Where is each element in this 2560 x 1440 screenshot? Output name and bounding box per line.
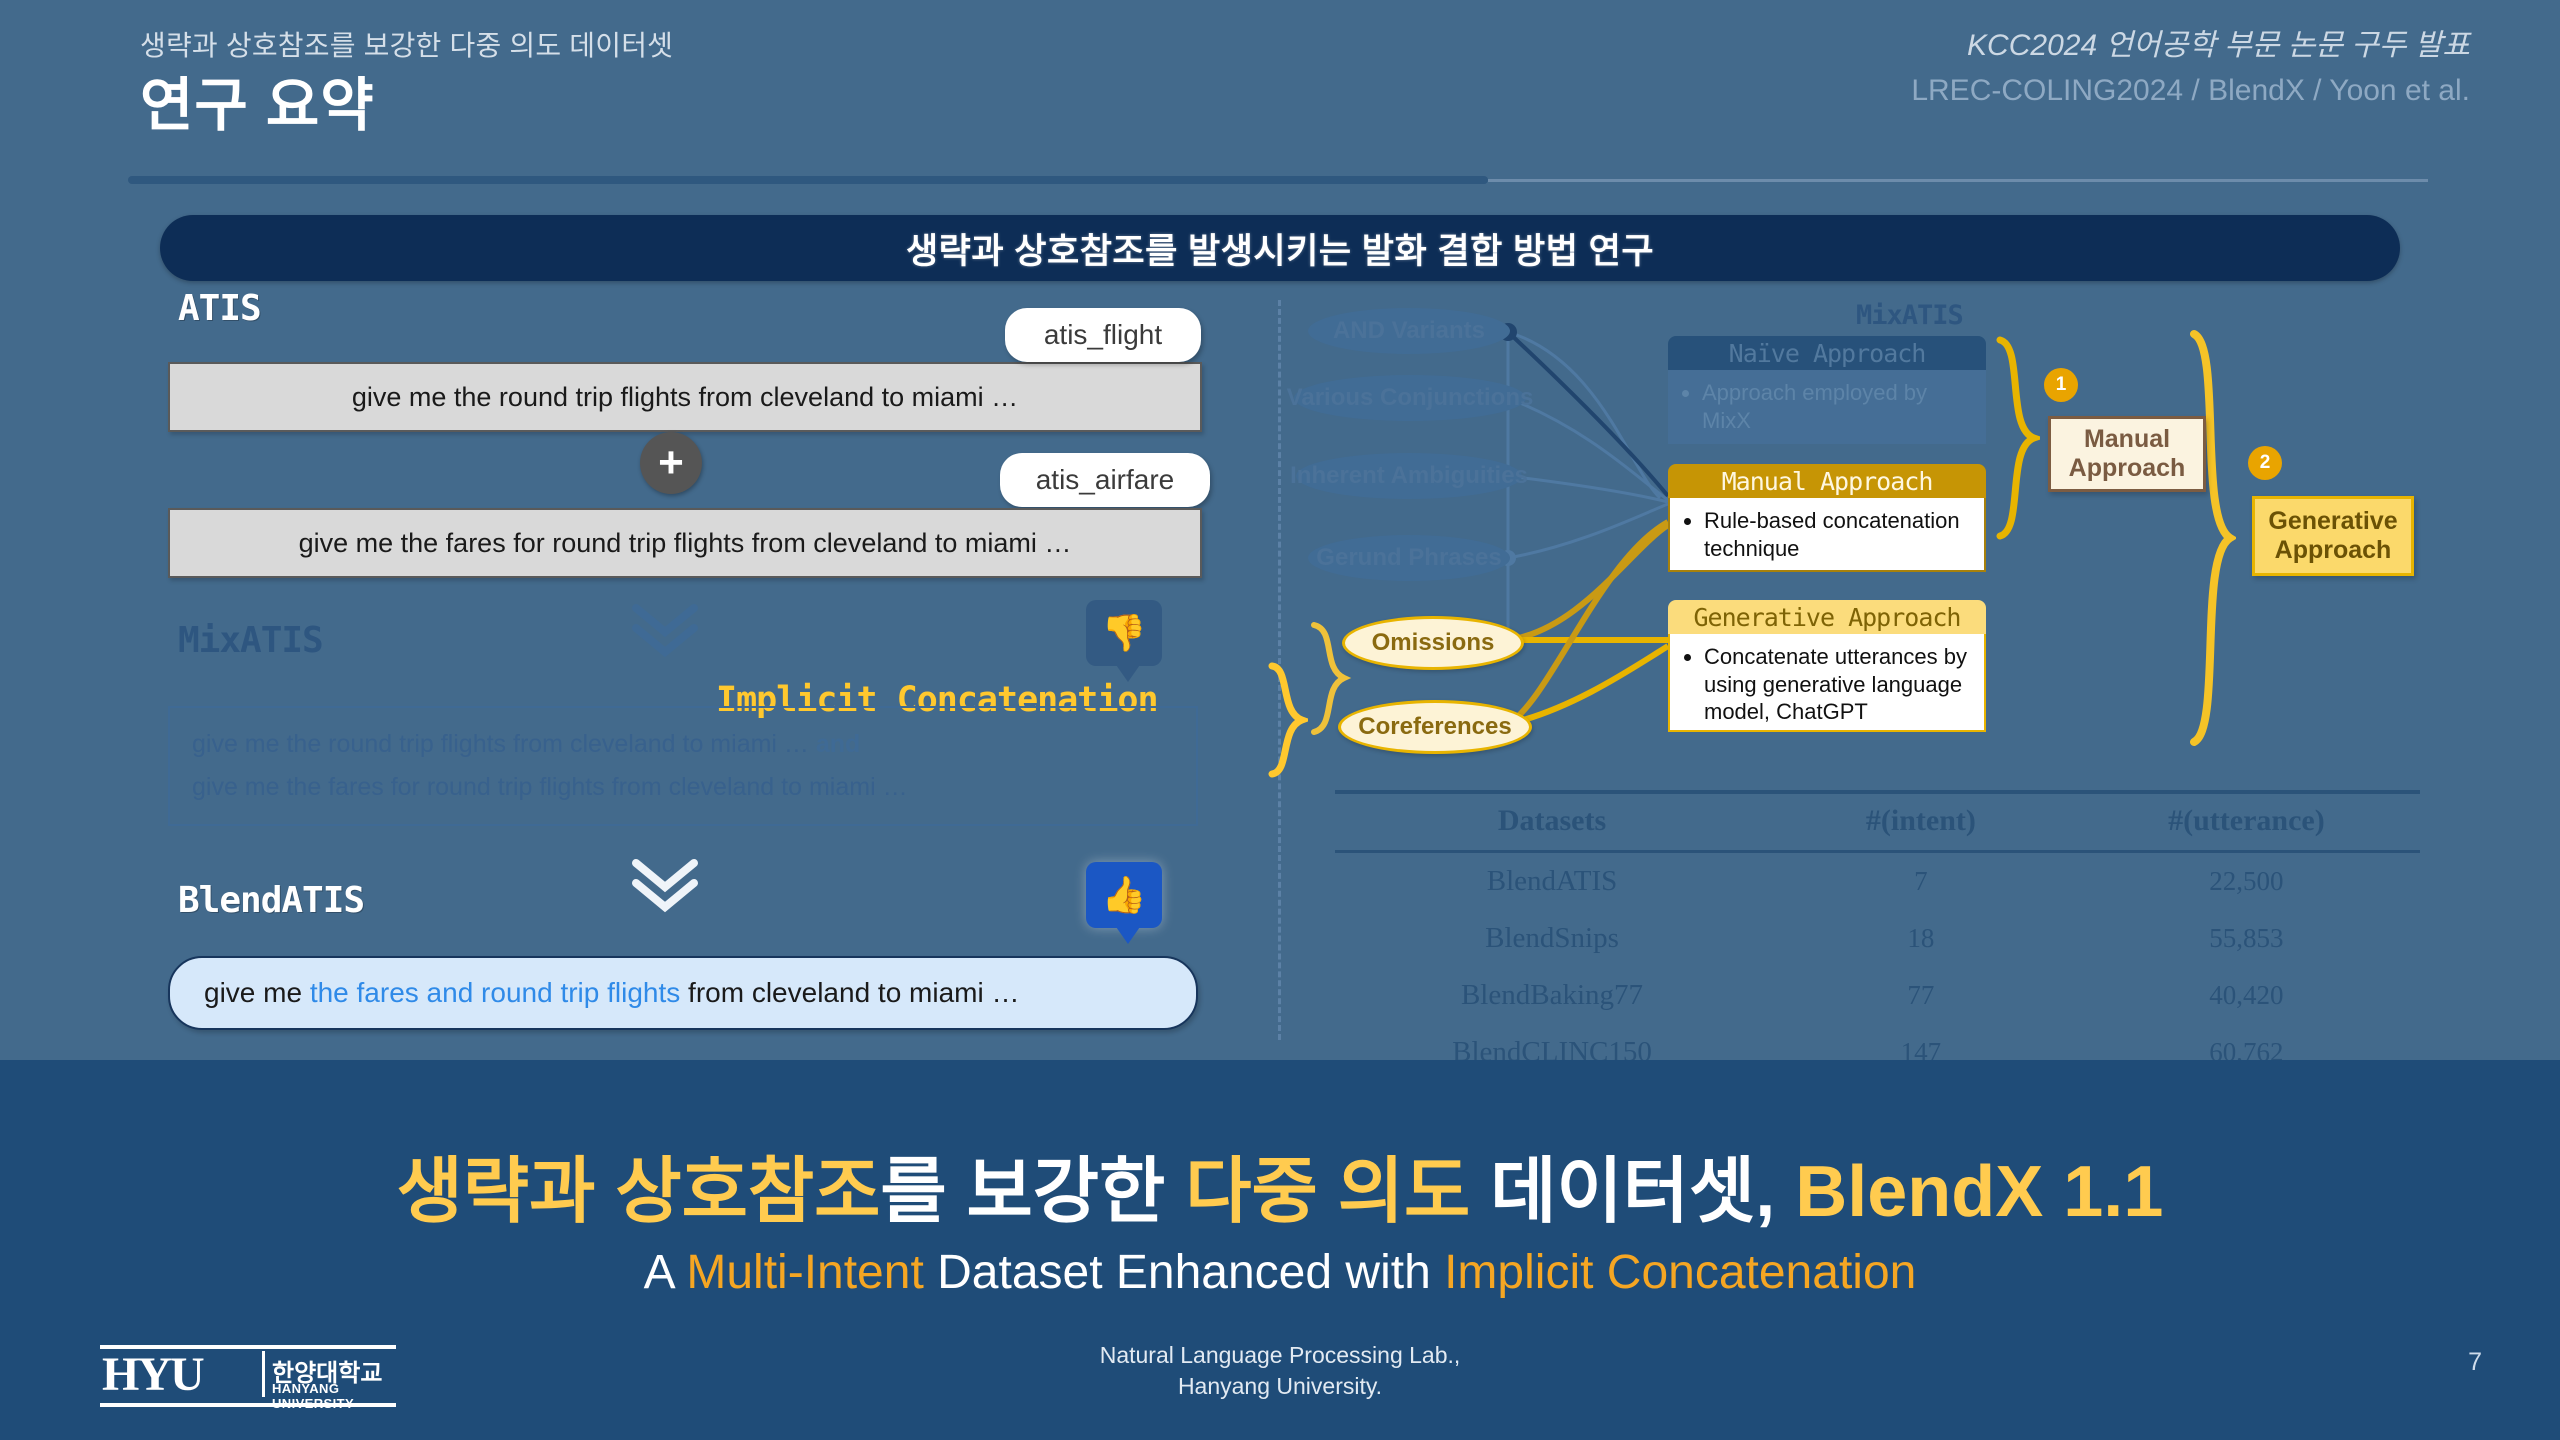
summary-title-en: A Multi-Intent Dataset Enhanced with Imp… <box>0 1245 2560 1300</box>
blend-highlight: the fares and round trip flights <box>310 977 680 1008</box>
datasets-table: Datasets #(intent) #(utterance) BlendATI… <box>1335 790 2420 1085</box>
label-blendatis: BlendATIS <box>178 880 364 921</box>
thumbs-up-icon: 👍 <box>1086 862 1162 928</box>
chevron-down-icon-1 <box>630 600 700 660</box>
card-manual-body: Rule-based concatenation technique <box>1668 498 1986 572</box>
cell-intent: 77 <box>1769 967 2073 1024</box>
node-and-variants: AND Variants <box>1308 308 1510 354</box>
badge-manual-line1: Manual <box>2084 425 2170 454</box>
card-naive-bullet-1: Approach employed by MixX <box>1702 379 1974 434</box>
card-manual-title: Manual Approach <box>1668 464 1986 498</box>
bubble-tail-up <box>1114 924 1142 944</box>
header-rule-left <box>128 176 1488 184</box>
blendatis-utterance-box: give me the fares and round trip flights… <box>168 956 1198 1030</box>
datasets-table-wrapper: Datasets #(intent) #(utterance) BlendATI… <box>1335 790 2420 1085</box>
cell-dataset: BlendSnips <box>1335 910 1769 967</box>
intent-tag-airfare: atis_airfare <box>1000 453 1210 507</box>
badge-number-2: 2 <box>2248 446 2282 480</box>
cell-intent: 18 <box>1769 910 2073 967</box>
label-mixatis: MixATIS <box>178 620 323 661</box>
lab-credit: Natural Language Processing Lab., Hanyan… <box>0 1340 2560 1402</box>
summary-en-t2: Dataset Enhanced with <box>924 1246 1444 1299</box>
lab-credit-line2: Hanyang University. <box>0 1371 2560 1402</box>
mixatis-line-2: give me the fares for round trip flights… <box>192 773 1196 802</box>
blendatis-utterance-text: give me the fares and round trip flights… <box>204 977 1020 1009</box>
summary-title-ko: 생략과 상호참조를 보강한 다중 의도 데이터셋, BlendX 1.1 <box>0 1132 2560 1237</box>
summary-ko-hl2: 다중 의도 <box>1185 1152 1470 1232</box>
mixatis-conjunction: and <box>816 730 860 758</box>
col-datasets: Datasets <box>1335 792 1769 852</box>
section-banner-text: 생략과 상호참조를 발생시키는 발화 결합 방법 연구 <box>906 223 1654 274</box>
page-number: 7 <box>2468 1348 2482 1377</box>
badge-generative-line1: Generative <box>2268 507 2397 536</box>
cell-intent: 7 <box>1769 852 2073 911</box>
badge-generative-line2: Approach <box>2275 536 2392 565</box>
summary-en-t1: A <box>644 1246 687 1299</box>
atis-utterance-2: give me the fares for round trip flights… <box>168 508 1202 578</box>
approach-mindmap: AND Variants Various Conjunctions Inhere… <box>1300 300 2550 760</box>
table-header-row: Datasets #(intent) #(utterance) <box>1335 792 2420 852</box>
brace-generative-icon <box>2180 328 2236 748</box>
bubble-tail <box>1114 662 1142 682</box>
mindmap-mixatis-title: MixATIS <box>1856 300 1963 331</box>
mixatis-line-1: give me the round trip flights from clev… <box>192 730 1196 759</box>
cell-dataset: BlendATIS <box>1335 852 1769 911</box>
chevron-down-icon-2 <box>630 855 700 915</box>
atis-utterance-1: give me the round trip flights from clev… <box>168 362 1202 432</box>
slide-header: 생략과 상호참조를 보강한 다중 의도 데이터셋 연구 요약 KCC2024 언… <box>0 0 2560 185</box>
thumbs-down-icon: 👎 <box>1086 600 1162 666</box>
card-generative-bullet-1: Concatenate utterances by using generati… <box>1704 643 1972 726</box>
plus-operator: + <box>640 432 702 494</box>
section-banner: 생략과 상호참조를 발생시키는 발화 결합 방법 연구 <box>160 215 2400 281</box>
thumbs-up-bubble: 👍 <box>1086 862 1162 928</box>
node-inherent-ambiguities: Inherent Ambiguities <box>1296 453 1522 499</box>
mixatis-utterance-box: give me the round trip flights from clev… <box>168 706 1198 826</box>
page-title: 연구 요약 <box>140 58 375 142</box>
summary-ko-t2: 데이터셋, <box>1470 1152 1795 1232</box>
node-omissions: Omissions <box>1342 616 1524 670</box>
col-utterance: #(utterance) <box>2073 792 2420 852</box>
card-generative-title: Generative Approach <box>1668 600 1986 634</box>
badge-manual-line2: Approach <box>2069 454 2186 483</box>
header-rule-right <box>1488 179 2428 182</box>
table-row: BlendBaking77 77 40,420 <box>1335 967 2420 1024</box>
summary-en-hl2: Implicit Concatenation <box>1444 1246 1916 1299</box>
lab-credit-line1: Natural Language Processing Lab., <box>0 1340 2560 1371</box>
table-row: BlendSnips 18 55,853 <box>1335 910 2420 967</box>
intent-tag-flight: atis_flight <box>1005 308 1201 362</box>
cell-utterance: 22,500 <box>2073 852 2420 911</box>
cell-utterance: 55,853 <box>2073 910 2420 967</box>
blend-suffix: from cleveland to miami … <box>680 977 1019 1008</box>
badge-generative-approach: Generative Approach <box>2252 496 2414 576</box>
label-atis: ATIS <box>178 288 261 329</box>
card-generative-body: Concatenate utterances by using generati… <box>1668 634 1986 732</box>
card-manual-approach: Manual Approach Rule-based concatenation… <box>1668 464 1986 572</box>
summary-ko-hl1: 생략과 상호참조 <box>397 1152 881 1232</box>
summary-en-hl1: Multi-Intent <box>686 1246 923 1299</box>
table-row: BlendATIS 7 22,500 <box>1335 852 2420 911</box>
mixatis-line-1-text: give me the round trip flights from clev… <box>192 730 816 758</box>
conference-label: KCC2024 언어공학 부문 논문 구두 발표 <box>1967 20 2470 64</box>
cell-dataset: BlendBaking77 <box>1335 967 1769 1024</box>
slide-root: 생략과 상호참조를 보강한 다중 의도 데이터셋 연구 요약 KCC2024 언… <box>0 0 2560 1440</box>
card-naive-approach: Naïve Approach Approach employed by MixX <box>1668 336 1986 444</box>
node-gerund-phrases: Gerund Phrases <box>1308 535 1510 581</box>
card-generative-approach: Generative Approach Concatenate utteranc… <box>1668 600 1986 732</box>
badge-number-1: 1 <box>2044 368 2078 402</box>
blend-prefix: give me <box>204 977 310 1008</box>
brace-manual-icon <box>1990 334 2040 544</box>
thumbs-down-bubble: 👎 <box>1086 600 1162 666</box>
card-manual-bullet-1: Rule-based concatenation technique <box>1704 507 1972 562</box>
paper-reference: LREC-COLING2024 / BlendX / Yoon et al. <box>1911 74 2470 108</box>
card-naive-body: Approach employed by MixX <box>1668 370 1986 444</box>
card-naive-title: Naïve Approach <box>1668 336 1986 370</box>
node-various-conjunctions: Various Conjunctions <box>1294 375 1526 421</box>
summary-ko-hl3: BlendX 1.1 <box>1795 1152 2163 1232</box>
summary-ko-t1: 를 보강한 <box>880 1152 1185 1232</box>
node-coreferences: Coreferences <box>1338 700 1532 754</box>
col-intent: #(intent) <box>1769 792 2073 852</box>
badge-manual-approach: Manual Approach <box>2048 416 2206 492</box>
cell-utterance: 40,420 <box>2073 967 2420 1024</box>
